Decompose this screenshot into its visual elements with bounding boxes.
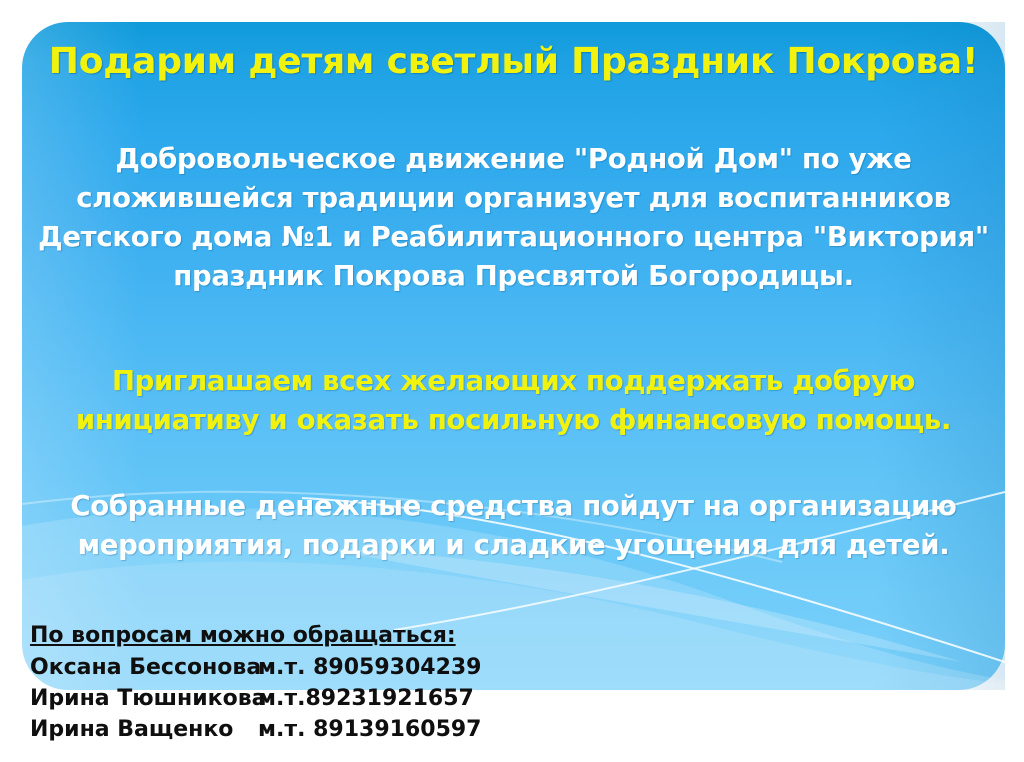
contact-phone: м.т. 89139160597 bbox=[258, 714, 482, 745]
contacts-block: По вопросам можно обращаться: Оксана Бес… bbox=[30, 622, 590, 745]
contact-phone: м.т. 89059304239 bbox=[258, 652, 482, 683]
paragraph-line: праздник Покрова Пресвятой Богородицы. bbox=[34, 257, 993, 296]
paragraph-line: сложившейся традиции организует для восп… bbox=[34, 179, 993, 218]
contact-row: Оксана Бессонова м.т. 89059304239 bbox=[30, 652, 590, 683]
contact-row: Ирина Тюшникова м.т.89231921657 bbox=[30, 683, 590, 714]
paragraph-line: Добровольческое движение "Родной Дом" по… bbox=[34, 140, 993, 179]
slide-content: Подарим детям светлый Праздник Покрова! … bbox=[22, 22, 1005, 690]
contact-name: Ирина Ващенко bbox=[30, 714, 258, 745]
paragraph-line: Детского дома №1 и Реабилитационного цен… bbox=[34, 218, 993, 257]
contacts-heading: По вопросам можно обращаться: bbox=[30, 622, 590, 650]
paragraph-intro: Добровольческое движение "Родной Дом" по… bbox=[34, 140, 993, 296]
contact-phone: м.т.89231921657 bbox=[258, 683, 474, 714]
slide-canvas: Подарим детям светлый Праздник Покрова! … bbox=[0, 0, 1024, 762]
paragraph-line: инициативу и оказать посильную финансову… bbox=[34, 401, 993, 440]
paragraph-line: Собранные денежные средства пойдут на ор… bbox=[34, 487, 993, 526]
paragraph-line: Приглашаем всех желающих поддержать добр… bbox=[34, 362, 993, 401]
page-title: Подарим детям светлый Праздник Покрова! bbox=[22, 40, 1005, 84]
paragraph-funds-use: Собранные денежные средства пойдут на ор… bbox=[34, 487, 993, 565]
paragraph-call-to-action: Приглашаем всех желающих поддержать добр… bbox=[34, 362, 993, 440]
contact-name: Ирина Тюшникова bbox=[30, 683, 258, 714]
paragraph-line: мероприятия, подарки и сладкие угощения … bbox=[34, 526, 993, 565]
contact-row: Ирина Ващенко м.т. 89139160597 bbox=[30, 714, 590, 745]
contact-name: Оксана Бессонова bbox=[30, 652, 258, 683]
